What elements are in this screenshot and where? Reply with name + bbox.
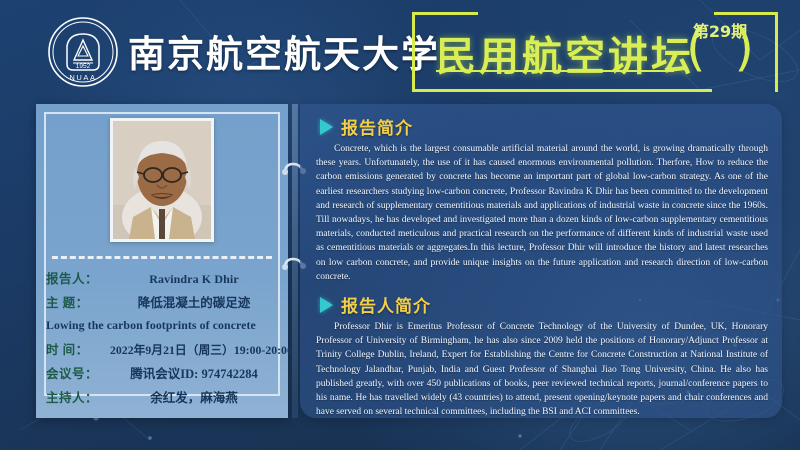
info-row-meeting-id: 会议号： 腾讯会议ID: 974742284 — [46, 363, 278, 382]
poster-header: 1952 NUAA 南京航空航天大学 民用航空讲坛 ( 第29期 ) — [0, 0, 800, 96]
play-triangle-icon — [320, 119, 333, 135]
info-row-speaker: 报告人： Ravindra K Dhir — [46, 268, 278, 287]
svg-text:NUAA: NUAA — [69, 73, 96, 82]
info-value: Lowing the carbon footprints of concrete — [46, 318, 256, 332]
forum-title: 民用航空讲坛 — [436, 24, 694, 82]
issue-paren-right: ) — [734, 18, 754, 78]
content-panel: 报告简介 Concrete, which is the largest cons… — [300, 104, 782, 418]
university-name: 南京航空航天大学 — [128, 24, 440, 78]
speaker-info-card: 报告人： Ravindra K Dhir 主 题： 降低混凝土的碳足迹 Lowi… — [36, 104, 288, 418]
info-label: 会议号： — [46, 363, 110, 382]
info-value: 2022年9月21日（周三）19:00-20:00 — [110, 341, 293, 358]
info-row-host: 主持人： 余红发，麻海燕 — [46, 387, 278, 406]
abstract-text: Concrete, which is the largest consumabl… — [316, 142, 768, 284]
poster-root: 1952 NUAA 南京航空航天大学 民用航空讲坛 ( 第29期 ) — [0, 0, 800, 450]
info-label: 报告人： — [46, 268, 110, 287]
section-title: 报告人简介 — [341, 292, 431, 317]
speaker-photo — [110, 118, 214, 242]
forum-banner: 民用航空讲坛 ( 第29期 ) — [400, 8, 795, 96]
svg-text:1952: 1952 — [76, 63, 91, 70]
section-header-abstract: 报告简介 — [320, 114, 770, 139]
info-value: 腾讯会议ID: 974742284 — [110, 363, 278, 382]
info-label: 主 题： — [46, 292, 110, 311]
info-label: 主持人： — [46, 387, 110, 406]
info-value: 余红发，麻海燕 — [110, 387, 278, 406]
section-title: 报告简介 — [341, 114, 413, 139]
play-triangle-icon — [320, 297, 333, 313]
card-divider — [52, 256, 272, 259]
issue-number-badge: ( 第29期 ) — [692, 22, 748, 84]
nuaa-logo-icon: 1952 NUAA — [47, 16, 119, 88]
biography-text: Professor Dhir is Emeritus Professor of … — [316, 320, 768, 419]
section-header-bio: 报告人简介 — [320, 292, 770, 317]
info-row-topic-english: Lowing the carbon footprints of concrete — [46, 316, 278, 334]
forum-title-underline — [436, 70, 674, 72]
info-label: 时 间： — [46, 339, 110, 358]
info-rows: 报告人： Ravindra K Dhir 主 题： 降低混凝土的碳足迹 Lowi… — [46, 268, 278, 411]
info-value: Ravindra K Dhir — [110, 272, 278, 287]
info-row-topic: 主 题： 降低混凝土的碳足迹 — [46, 292, 278, 311]
info-row-time: 时 间： 2022年9月21日（周三）19:00-20:00 — [46, 339, 278, 358]
info-value: 降低混凝土的碳足迹 — [110, 292, 278, 311]
